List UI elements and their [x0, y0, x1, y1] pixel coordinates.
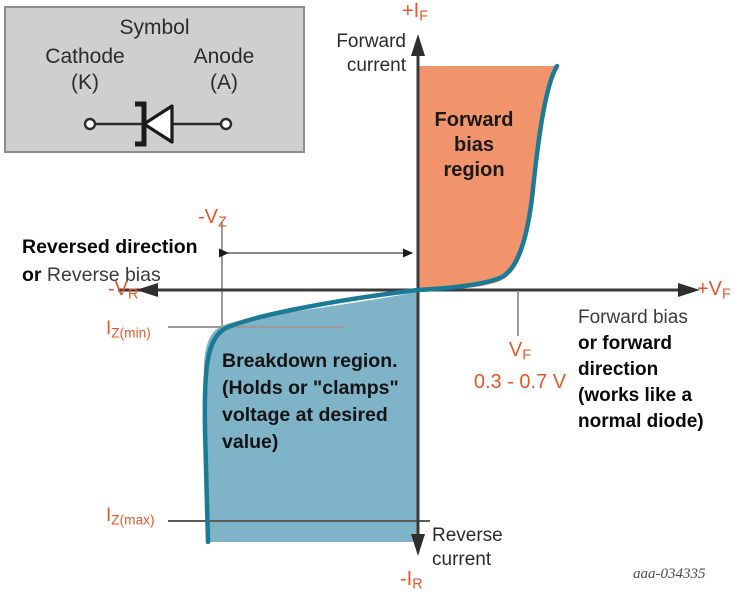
forward-current-line2: current: [347, 55, 406, 76]
breakdown-line4: value): [222, 431, 278, 453]
axis-label-positive-vf: +VF: [697, 278, 731, 303]
reverse-bias-or-word: or: [22, 264, 42, 286]
cathode-label-group: Cathode (K): [20, 44, 150, 96]
symbol-panel-title: Symbol: [6, 16, 303, 40]
anode-abbr: (A): [210, 71, 238, 94]
forward-bias-region-label: Forward bias region: [418, 108, 530, 183]
forward-direction-caption: Forward bias or forward direction (works…: [578, 305, 733, 435]
axis-label-positive-vf-sub: F: [722, 287, 731, 303]
reverse-current-axis-caption: Reverse current: [432, 524, 542, 572]
marker-label-vz: -VZ: [198, 206, 227, 231]
marker-label-izmax-sub: Z(max): [111, 513, 154, 528]
reversed-direction-label: Reversed direction: [22, 236, 198, 259]
marker-label-vz-sub: Z: [218, 215, 227, 231]
forward-current-line1: Forward: [336, 31, 406, 52]
marker-label-izmin-sub: Z(min): [111, 326, 151, 341]
zener-diode-symbol-icon: [6, 100, 307, 148]
marker-label-izmax: IZ(max): [106, 505, 155, 528]
axis-label-positive-vf-text: +V: [697, 278, 722, 300]
forward-current-axis-caption: Forward current: [312, 30, 406, 78]
or-forward-text: or forward: [578, 331, 733, 357]
current-axis-arrow-down: [411, 534, 425, 556]
breakdown-region-label: Breakdown region. (Holds or "clamps" vol…: [222, 348, 432, 456]
current-axis-arrow-up: [411, 34, 425, 56]
forward-bias-text: Forward bias: [578, 305, 733, 331]
anode-label-group: Anode (A): [159, 44, 289, 96]
marker-label-vf: VF 0.3 - 0.7 V: [465, 337, 575, 395]
anode-label: Anode: [194, 45, 255, 68]
reverse-current-line2: current: [432, 549, 491, 570]
symbol-panel: Symbol Cathode (K) Anode (A): [4, 6, 305, 153]
marker-label-vf-sym: VF: [509, 339, 531, 361]
breakdown-line1: Breakdown region.: [222, 350, 398, 372]
forward-region-line1: Forward: [435, 109, 514, 131]
reverse-current-line1: Reverse: [432, 525, 503, 546]
reverse-bias-text: Reverse bias: [47, 264, 161, 286]
marker-label-vz-text: -V: [198, 206, 218, 228]
works-like-line2: normal diode): [578, 409, 733, 435]
forward-region-line3: region: [443, 159, 504, 181]
marker-label-vf-value: 0.3 - 0.7 V: [474, 371, 566, 393]
works-like-line1: (works like a: [578, 383, 733, 409]
axis-label-positive-if: +IF: [402, 0, 428, 25]
breakdown-line3: voltage at desired: [222, 404, 388, 426]
axis-label-negative-ir-text: -I: [400, 568, 412, 590]
breakdown-line2: (Holds or "clamps": [222, 377, 399, 399]
reverse-bias-label: or Reverse bias: [22, 264, 161, 287]
watermark-id: aaa-034335: [633, 566, 706, 583]
diagram-canvas: Symbol Cathode (K) Anode (A) +IF -IR -VR…: [0, 0, 735, 600]
marker-label-izmin: IZ(min): [106, 318, 151, 341]
axis-label-negative-ir: -IR: [400, 568, 423, 593]
marker-label-vf-sub: F: [522, 348, 531, 364]
direction-text: direction: [578, 357, 733, 383]
axis-label-negative-vr-sub: R: [128, 287, 138, 303]
forward-region-line2: bias: [454, 134, 494, 156]
axis-label-negative-ir-sub: R: [412, 577, 422, 593]
axis-label-positive-if-text: +I: [402, 0, 419, 22]
cathode-abbr: (K): [71, 71, 99, 94]
cathode-label: Cathode: [45, 45, 124, 68]
axis-label-positive-if-sub: F: [419, 9, 428, 25]
marker-label-vf-text: V: [509, 339, 522, 361]
